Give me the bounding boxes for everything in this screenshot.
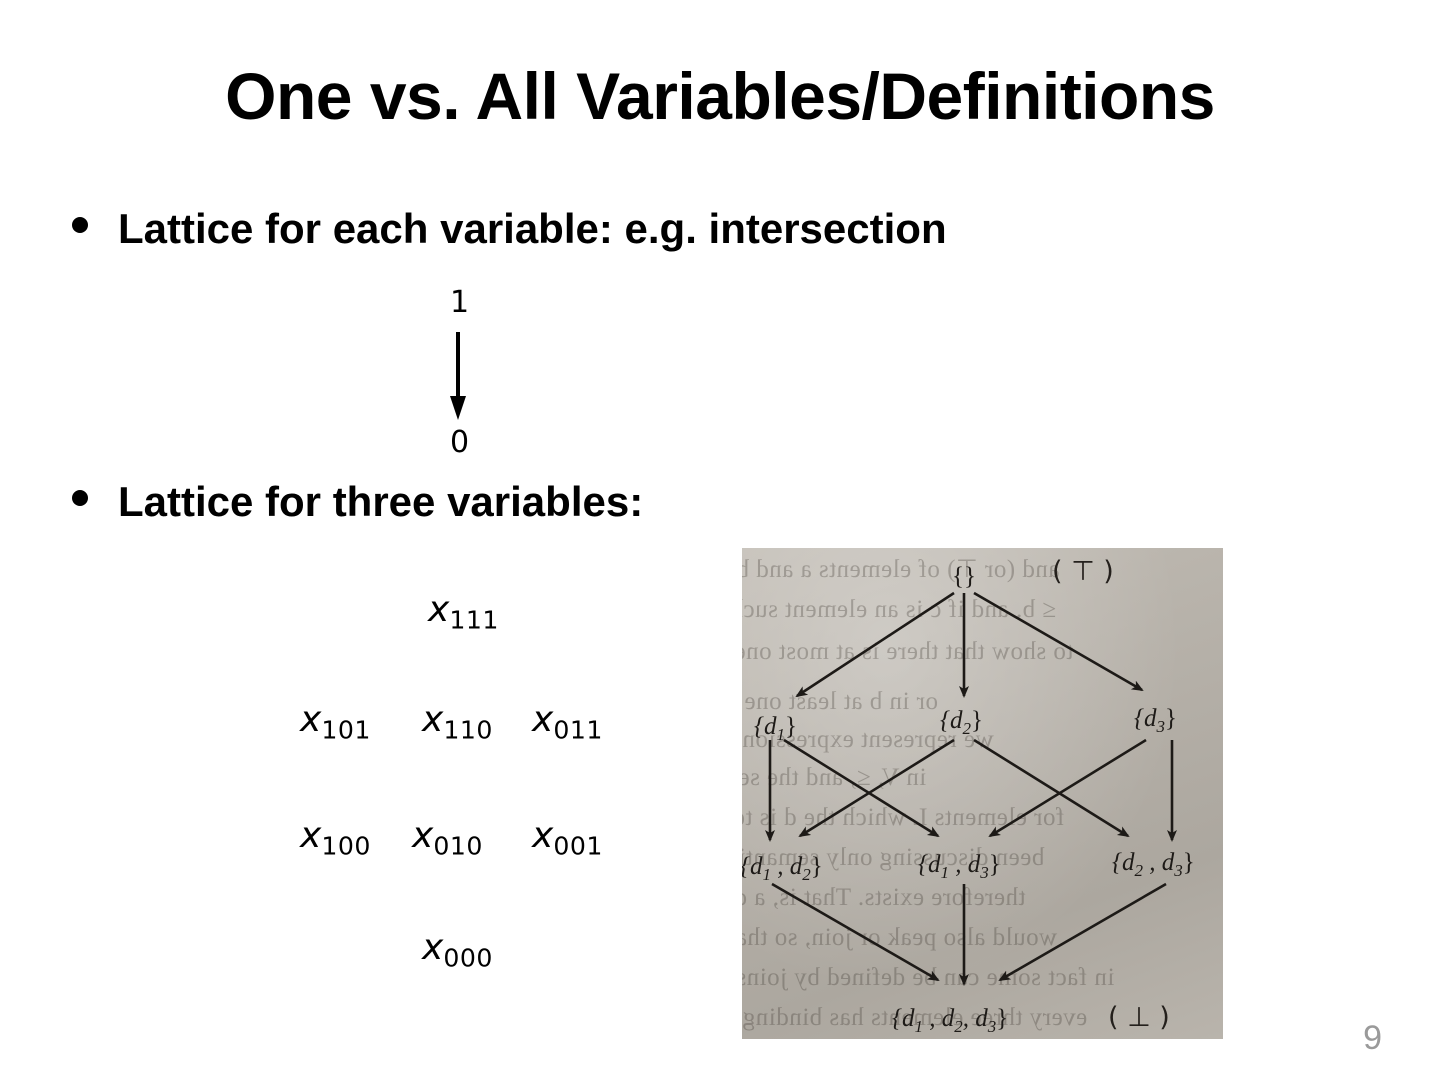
lattice-graph: {} ( ⊤ ) {d1} {d2} {d3} {d1 , d2} {d1 , … [742,548,1223,1039]
lattice-node-x000: x000 [422,930,493,971]
fig-node-d1-d2: {d1 , d2} [742,853,823,884]
fig-bottom-symbol: ( ⊥ ) [1108,1002,1170,1033]
fig-node-d1-d2-d3: {d1 , d2, d3} [892,1005,1008,1036]
two-point-lattice-diagram: 1 0 [408,288,528,468]
fig-node-d2: {d2} [940,707,983,738]
lattice-node-x100: x100 [300,818,371,859]
down-arrow-icon [438,330,478,422]
lattice-node-x101-base: x [300,699,321,740]
lattice-node-x100-base: x [300,815,321,856]
bullet-dot-icon [72,490,88,506]
fig-node-d1-d3: {d1 , d3} [918,851,1001,882]
lattice-node-x010-base: x [412,815,433,856]
bullet-dot-icon [72,217,88,233]
lattice-node-zero: 0 [450,428,469,458]
three-variable-lattice-diagram: x111 x101 x110 x011 x100 x010 x001 x000 [280,580,680,980]
lattice-node-x001-sub: 001 [553,832,603,861]
lattice-node-x111-base: x [428,589,449,630]
page-number: 9 [1363,1019,1382,1058]
fig-node-d1: {d1} [754,713,797,744]
lattice-node-x001-base: x [532,815,553,856]
lattice-node-x000-base: x [422,927,443,968]
bullet-item-2: Lattice for three variables: [72,478,643,526]
lattice-node-x010-sub: 010 [433,832,483,861]
lattice-node-x001: x001 [532,818,603,859]
fig-top-symbol: ( ⊤ ) [1052,556,1114,587]
lattice-node-x000-sub: 000 [443,944,493,973]
lattice-node-x101-sub: 101 [321,716,371,745]
bullet-1-label: Lattice for each variable: e.g. intersec… [118,205,947,253]
lattice-node-one: 1 [450,288,469,318]
bullet-2-label: Lattice for three variables: [118,478,643,526]
lattice-node-x010: x010 [412,818,483,859]
lattice-node-x011-sub: 011 [553,716,603,745]
lattice-node-x111: x111 [428,592,499,633]
lattice-node-x111-sub: 111 [449,606,499,635]
textbook-lattice-photo: and (or ⊤) of elements a and b ≤ b, and … [742,548,1223,1039]
lattice-edges [770,593,1172,984]
lattice-node-x011-base: x [532,699,553,740]
lattice-node-x110: x110 [422,702,493,743]
lattice-node-x110-sub: 110 [443,716,493,745]
page-title: One vs. All Variables/Definitions [0,62,1440,131]
lattice-node-x110-base: x [422,699,443,740]
fig-node-empty-set: {} [952,563,976,590]
lattice-node-x101: x101 [300,702,371,743]
fig-node-d2-d3: {d2 , d3} [1112,849,1195,880]
fig-node-d3: {d3} [1134,705,1177,736]
bullet-item-1: Lattice for each variable: e.g. intersec… [72,205,947,253]
lattice-node-x100-sub: 100 [321,832,371,861]
lattice-node-x011: x011 [532,702,603,743]
